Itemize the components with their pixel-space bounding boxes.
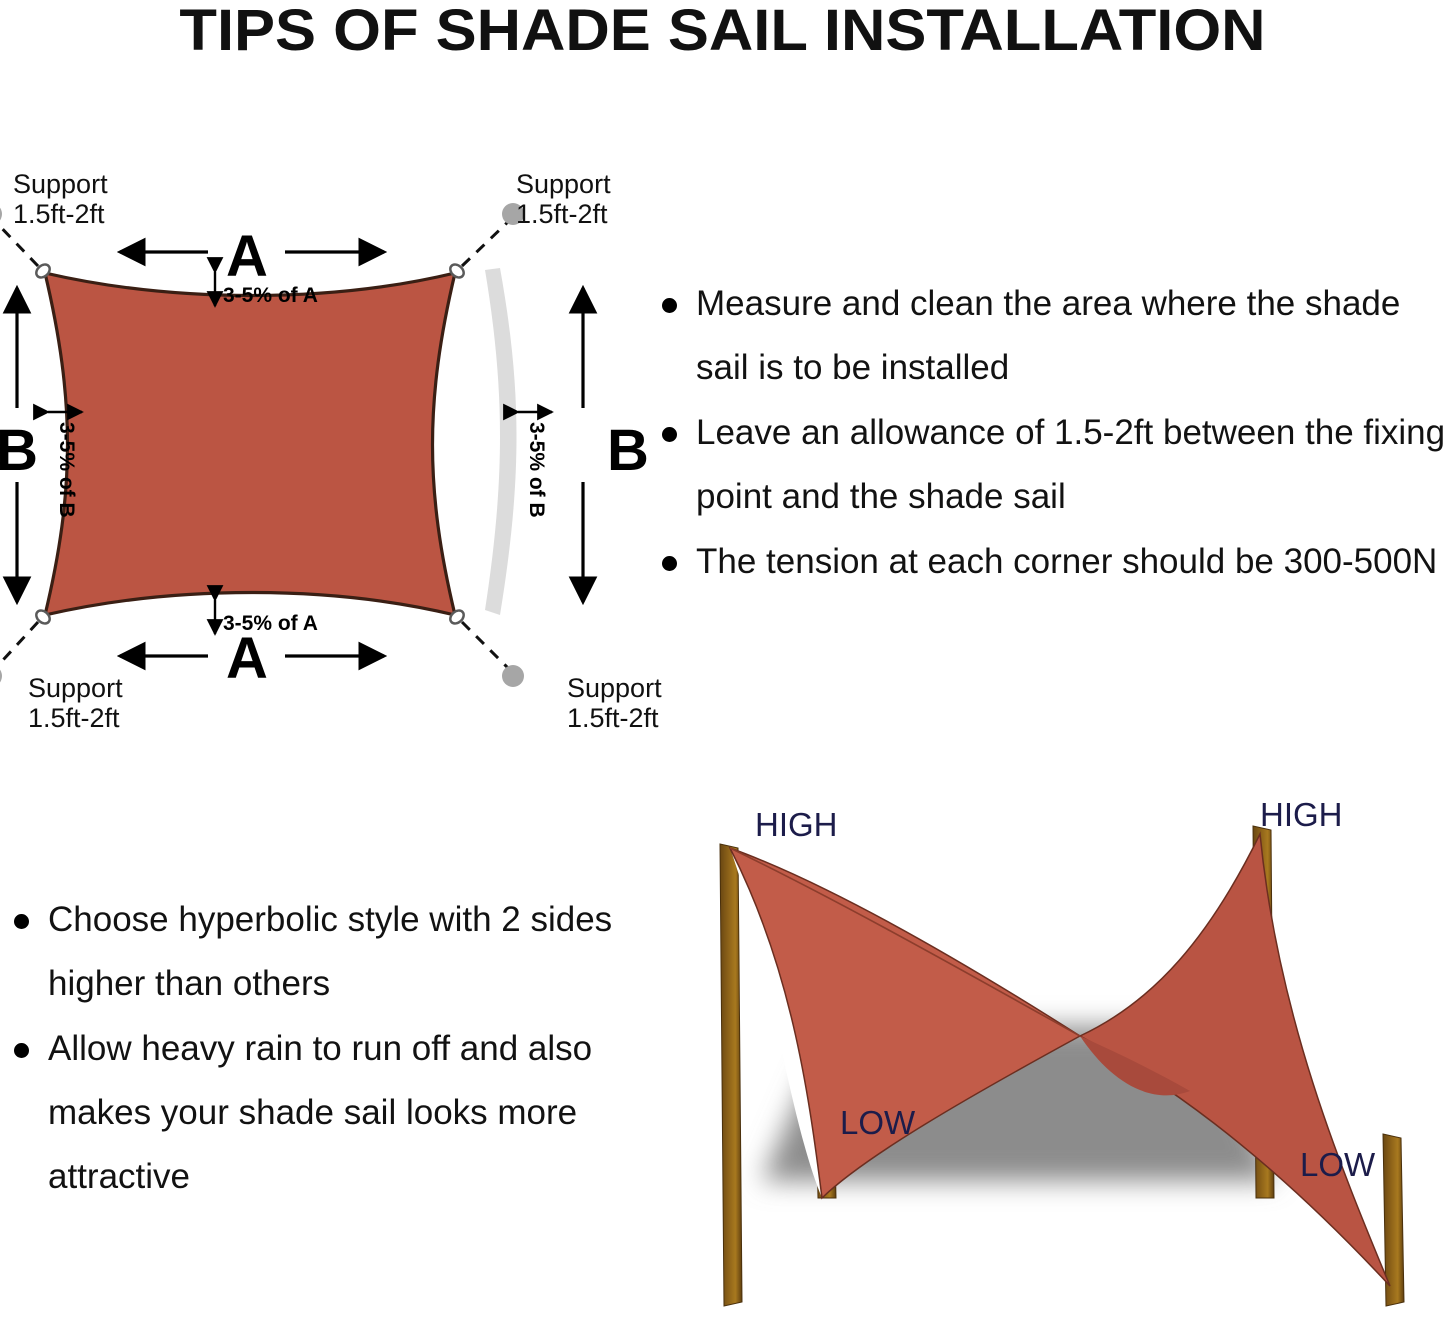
post-label-low-left: LOW [840, 1104, 916, 1141]
list-item: Allow heavy rain to run off and also mak… [0, 1017, 640, 1209]
bullet-icon [662, 556, 677, 571]
bullet-icon [662, 427, 677, 442]
tip-text: The tension at each corner should be 300… [696, 542, 1437, 581]
support-label-bottom-left-line2: 1.5ft-2ft [28, 703, 120, 730]
hyperbolic-sail-diagram: HIGH HIGH LOW LOW [650, 786, 1445, 1319]
rect-sail-diagram: A 3-5% of A A 3-5% of A B 3-5% of B [0, 160, 680, 730]
list-item: The tension at each corner should be 300… [648, 530, 1445, 594]
post-label-high-left: HIGH [755, 806, 838, 843]
list-item: Measure and clean the area where the sha… [648, 272, 1445, 400]
dimension-label-b-right: B [607, 418, 649, 483]
bullet-icon [14, 914, 29, 929]
support-label-top-right-line2: 1.5ft-2ft [516, 199, 608, 229]
slack-label-b-left: 3-5% of B [55, 422, 78, 518]
support-label-bottom-left: Support 1.5ft-2ft [28, 673, 123, 730]
post-label-high-right: HIGH [1260, 796, 1343, 833]
sail-edge-shadow [485, 268, 517, 615]
dimension-label-a-bottom: A [226, 626, 268, 691]
support-label-bottom-left-line1: Support [28, 673, 123, 703]
support-label-bottom-right-line1: Support [567, 673, 662, 703]
support-label-top-left-line1: Support [13, 169, 108, 199]
installation-tips-bottom-list: Choose hyperbolic style with 2 sides hig… [0, 888, 640, 1210]
dimension-label-a-top: A [226, 224, 268, 289]
dimension-label-b-left: B [0, 418, 38, 483]
page-title: TIPS OF SHADE SAIL INSTALLATION [0, 0, 1445, 62]
slack-label-a-bottom: 3-5% of A [223, 612, 318, 635]
support-label-top-right: Support 1.5ft-2ft [516, 169, 611, 229]
bullet-icon [662, 298, 677, 313]
support-label-top-left: Support 1.5ft-2ft [13, 169, 108, 229]
slack-label-a-top: 3-5% of A [223, 284, 318, 307]
tip-text: Measure and clean the area where the sha… [696, 284, 1400, 387]
list-item: Choose hyperbolic style with 2 sides hig… [0, 888, 640, 1016]
bullet-icon [14, 1043, 29, 1058]
post-high-left [720, 844, 742, 1306]
support-label-bottom-right: Support 1.5ft-2ft [567, 673, 662, 730]
post-label-low-right: LOW [1300, 1146, 1376, 1183]
tip-text: Leave an allowance of 1.5-2ft between th… [696, 413, 1445, 516]
tip-text: Choose hyperbolic style with 2 sides hig… [48, 900, 612, 1003]
installation-tips-right-list: Measure and clean the area where the sha… [648, 272, 1445, 595]
support-label-top-right-line1: Support [516, 169, 611, 199]
support-label-top-left-line2: 1.5ft-2ft [13, 199, 105, 229]
support-label-bottom-right-line2: 1.5ft-2ft [567, 703, 659, 730]
slack-label-b-right: 3-5% of B [525, 422, 548, 518]
shade-sail-fabric [45, 273, 455, 615]
tip-text: Allow heavy rain to run off and also mak… [48, 1029, 592, 1196]
list-item: Leave an allowance of 1.5-2ft between th… [648, 401, 1445, 529]
